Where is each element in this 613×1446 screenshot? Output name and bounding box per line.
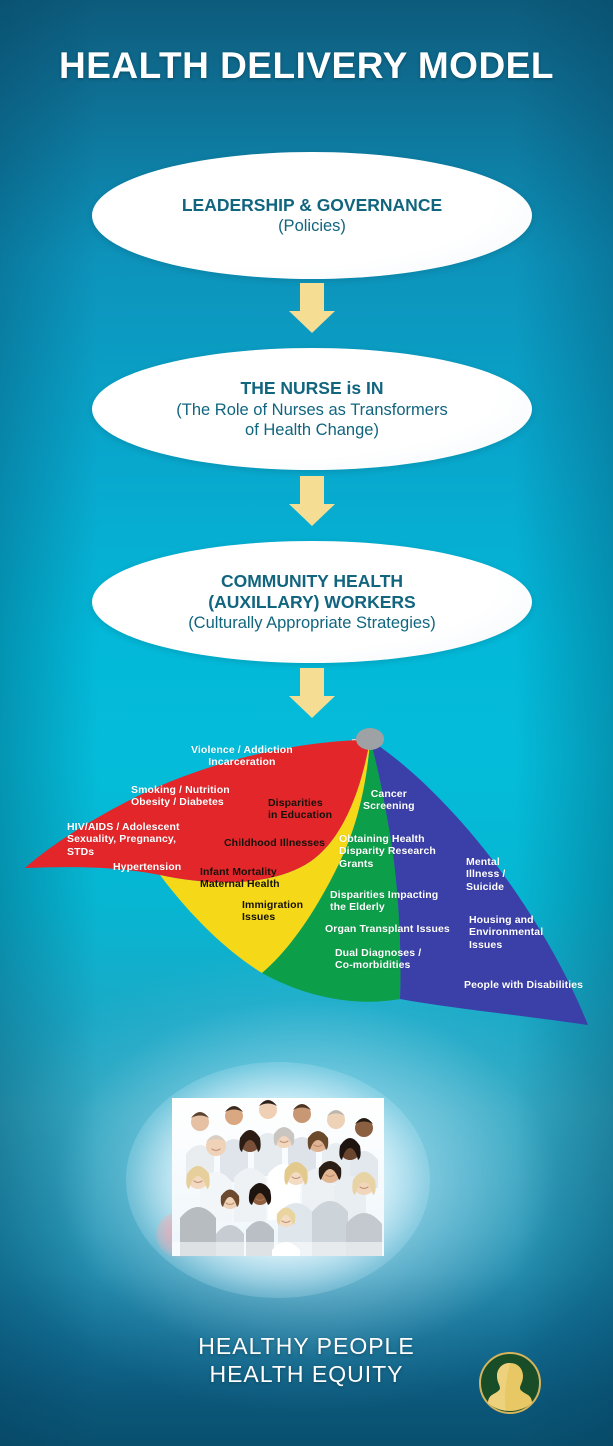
umbrella-label-yellow-3: Infant Mortality Maternal Health (200, 866, 280, 891)
umbrella-knob (356, 728, 384, 750)
logo-svg (477, 1350, 543, 1416)
people-group-illustration (168, 1092, 388, 1262)
node-heading: THE NURSE is IN (241, 378, 384, 399)
node-heading-line1: COMMUNITY HEALTH (221, 571, 403, 592)
umbrella-label-green-4: Organ Transplant Issues (325, 923, 450, 935)
profile-silhouette-logo (477, 1350, 543, 1416)
umbrella-diagram (0, 715, 613, 1045)
umbrella-label-yellow-4: Immigration Issues (242, 899, 303, 924)
node-heading-line2: (AUXILLARY) WORKERS (208, 592, 415, 613)
umbrella-label-blue-3: People with Disabilities (464, 979, 583, 991)
umbrella-label-blue-2: Housing and Environmental Issues (469, 914, 543, 951)
arrow-shaft (300, 668, 324, 696)
umbrella-label-yellow-2: Childhood Illnesses (224, 837, 325, 849)
umbrella-label-red-2: Smoking / Nutrition Obesity / Diabetes (131, 784, 230, 809)
flow-arrow-1 (289, 283, 335, 333)
node-subtitle: (Culturally Appropriate Strategies) (188, 613, 436, 633)
arrow-shaft (300, 283, 324, 311)
node-subtitle-line2: of Health Change) (245, 420, 379, 440)
umbrella-svg (0, 715, 613, 1045)
umbrella-label-red-4: Hypertension (113, 861, 181, 873)
umbrella-label-blue-1: Mental Illness / Suicide (466, 856, 505, 893)
diverse-people-photo (168, 1092, 388, 1262)
flow-arrow-3 (289, 668, 335, 718)
umbrella-label-green-1: Cancer Screening (363, 788, 415, 813)
umbrella-label-yellow-1: Disparities in Education (268, 797, 332, 822)
node-leadership-governance: LEADERSHIP & GOVERNANCE (Policies) (92, 152, 532, 279)
flow-arrow-2 (289, 476, 335, 526)
page-title: HEALTH DELIVERY MODEL (0, 45, 613, 87)
node-subtitle-line1: (The Role of Nurses as Transformers (176, 400, 447, 420)
umbrella-label-green-2: Obtaining Health Disparity Research Gran… (339, 833, 436, 870)
node-heading: LEADERSHIP & GOVERNANCE (182, 195, 442, 216)
umbrella-label-red-1: Violence / Addiction Incarceration (191, 744, 293, 769)
node-the-nurse-is-in: THE NURSE is IN (The Role of Nurses as T… (92, 348, 532, 470)
arrow-shaft (300, 476, 324, 504)
node-community-health-workers: COMMUNITY HEALTH (AUXILLARY) WORKERS (Cu… (92, 541, 532, 663)
umbrella-label-green-3: Disparities Impacting the Elderly (330, 889, 438, 914)
arrow-head-icon (289, 504, 335, 526)
arrow-head-icon (289, 311, 335, 333)
node-subtitle: (Policies) (278, 216, 346, 236)
umbrella-label-red-3: HIV/AIDS / Adolescent Sexuality, Pregnan… (67, 821, 180, 858)
umbrella-label-green-5: Dual Diagnoses / Co-morbidities (335, 947, 421, 972)
